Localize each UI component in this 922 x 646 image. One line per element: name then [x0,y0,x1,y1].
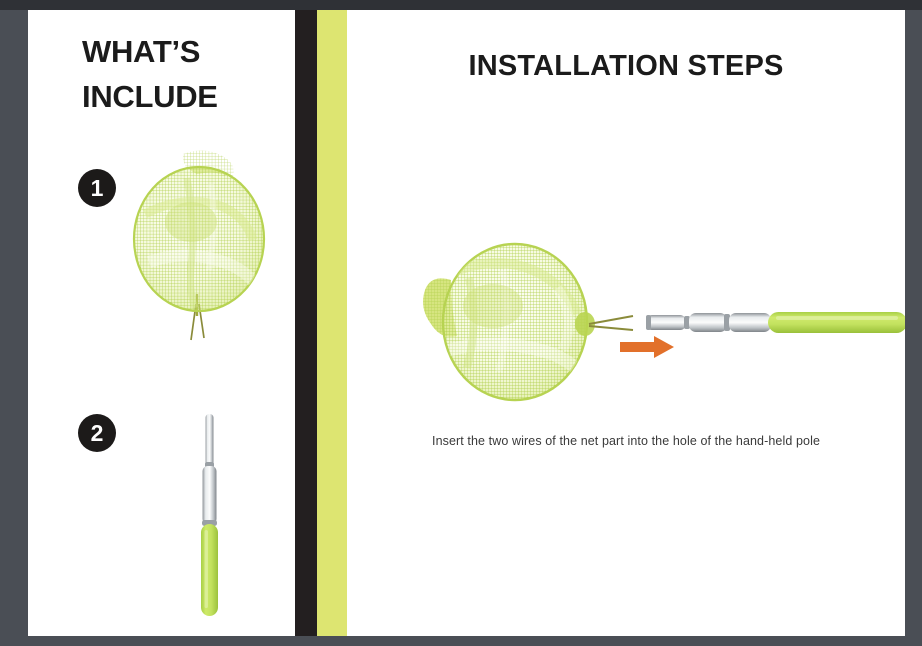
telescopic-pole-icon [644,302,905,346]
whats-included-heading: WHAT’S INCLUDE [82,30,297,120]
fishing-net-icon [407,232,637,412]
step-badge-1: 1 [78,169,116,207]
installation-caption: Insert the two wires of the net part int… [347,434,905,448]
screenshot-stage: WHAT’S INCLUDE 1 2 [0,0,922,646]
viewer-top-bar [0,0,922,10]
divider-dark-stripe [295,10,317,636]
installation-steps-panel: INSTALLATION STEPS [347,10,905,636]
whats-included-panel: WHAT’S INCLUDE 1 2 [28,10,295,636]
fishing-net-icon [125,144,275,344]
step-badge-2: 2 [78,414,116,452]
divider-green-stripe [317,10,347,636]
instruction-page: WHAT’S INCLUDE 1 2 [28,10,905,636]
installation-steps-heading: INSTALLATION STEPS [347,50,905,83]
telescopic-pole-icon [185,408,235,620]
